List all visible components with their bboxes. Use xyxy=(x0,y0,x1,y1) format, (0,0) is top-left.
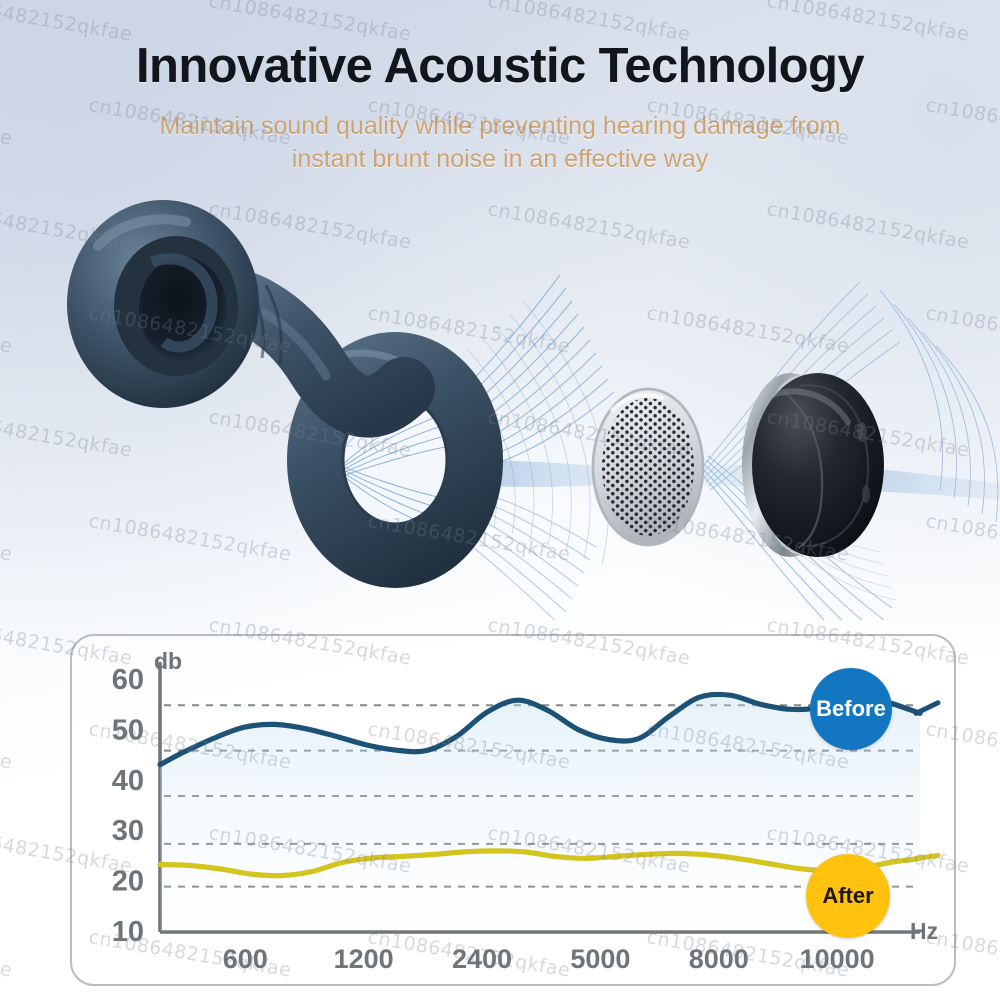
x-tick-10000: 10000 xyxy=(800,944,875,974)
y-axis-unit-label: db xyxy=(154,648,182,675)
x-tick-1200: 1200 xyxy=(334,944,394,974)
x-axis-unit-label: Hz xyxy=(910,918,938,945)
watermark-text: cn1086482152qkfae xyxy=(924,94,1000,150)
earplug-part-ear-tip xyxy=(67,200,259,408)
driver-capsule xyxy=(742,373,884,557)
y-axis-tick-labels: 102030405060 xyxy=(112,664,144,948)
before-badge-connector xyxy=(916,703,938,714)
watermark-row: cn1086482152qkfaecn1086482152qkfaecn1086… xyxy=(0,0,1000,12)
legend-badge-after-label: After xyxy=(822,883,873,909)
frequency-response-chart-panel: db Hz 102030405060 600120024005000800010… xyxy=(70,634,956,986)
y-tick-60: 60 xyxy=(112,664,144,696)
x-tick-600: 600 xyxy=(223,944,268,974)
page-title: Innovative Acoustic Technology xyxy=(0,38,1000,94)
watermark-text: cn1086482152qkfae xyxy=(0,718,14,774)
legend-badge-before[interactable]: Before xyxy=(810,668,892,750)
x-tick-2400: 2400 xyxy=(452,944,512,974)
x-tick-5000: 5000 xyxy=(570,944,630,974)
watermark-text: cn1086482152qkfae xyxy=(0,94,14,150)
y-tick-40: 40 xyxy=(112,765,144,797)
x-tick-8000: 8000 xyxy=(689,944,749,974)
mesh-filter-disc xyxy=(593,389,703,545)
legend-badge-before-label: Before xyxy=(816,696,886,722)
watermark-text: cn1086482152qkfae xyxy=(0,926,14,982)
y-tick-30: 30 xyxy=(112,815,144,847)
hero-product-illustration xyxy=(0,170,1000,620)
y-tick-20: 20 xyxy=(112,866,144,898)
legend-badge-after[interactable]: After xyxy=(806,854,890,938)
page-subtitle: Maintain sound quality while preventing … xyxy=(140,110,860,176)
y-tick-10: 10 xyxy=(112,916,144,948)
x-axis-tick-labels: 600120024005000800010000 xyxy=(223,944,875,974)
y-tick-50: 50 xyxy=(112,714,144,746)
after-badge-connector xyxy=(916,855,938,858)
product-marketing-image: Innovative Acoustic Technology Maintain … xyxy=(0,0,1000,1000)
